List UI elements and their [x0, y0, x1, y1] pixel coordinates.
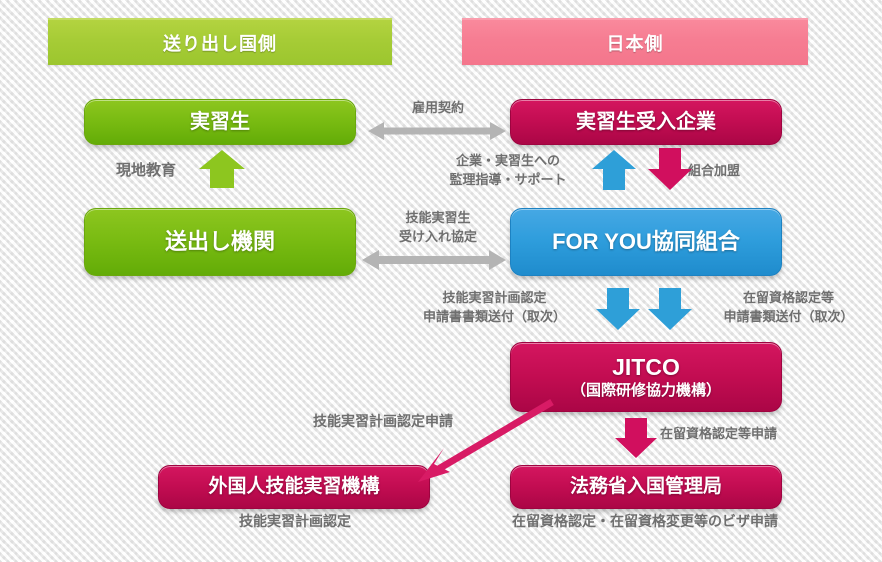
caption-supervision-support: 企業・実習生への 監理指導・サポート [428, 152, 588, 190]
caption-visa-application: 在留資格認定・在留資格変更等のビザ申請 [480, 511, 810, 531]
caption-status-document-send: 在留資格認定等 申請書類送付（取次） [706, 289, 871, 327]
arrow-down-icon [648, 288, 692, 330]
node-otit[interactable]: 外国人技能実習機構 [158, 465, 430, 509]
banner-sending-country: 送り出し国側 [48, 18, 392, 65]
diagram-canvas: 送り出し国側 日本側 実習生 実習生受入企業 送出し機関 FOR YOU協同組合… [0, 0, 882, 562]
node-sending-organization-label: 送出し機関 [165, 229, 275, 255]
arrow-down-icon [596, 288, 640, 330]
banner-sending-country-label: 送り出し国側 [163, 30, 277, 56]
arrow-down-icon [648, 148, 692, 190]
banner-japan-side: 日本側 [462, 18, 808, 65]
banner-japan-side-label: 日本側 [607, 30, 664, 56]
caption-status-certification-application: 在留資格認定等申請 [660, 425, 840, 444]
node-jitco-label: JITCO [612, 354, 680, 382]
double-arrow-horizontal-icon [362, 248, 506, 272]
caption-plan-document-send: 技能実習計画認定 申請書書類送付（取次） [412, 289, 577, 327]
node-sending-organization[interactable]: 送出し機関 [84, 208, 356, 276]
caption-plan-certified: 技能実習計画認定 [195, 511, 395, 531]
caption-union-membership: 組合加盟 [688, 162, 788, 181]
arrow-up-icon [199, 150, 245, 188]
double-arrow-horizontal-icon [368, 120, 506, 142]
node-immigration-bureau-label: 法務省入国管理局 [570, 476, 722, 499]
arrow-down-icon [615, 418, 657, 458]
node-foryou-cooperative-label: FOR YOU協同組合 [552, 229, 740, 255]
arrow-up-icon [592, 150, 636, 190]
node-host-company-label: 実習生受入企業 [576, 110, 716, 134]
node-trainee-label: 実習生 [190, 110, 250, 134]
node-jitco-sublabel: （国際研修協力機構） [571, 382, 721, 400]
caption-employment-contract: 雇用契約 [383, 99, 493, 118]
arrow-diagonal-down-left-icon [400, 398, 560, 488]
node-trainee[interactable]: 実習生 [84, 99, 356, 145]
caption-acceptance-agreement: 技能実習生 受け入れ協定 [373, 209, 503, 247]
node-otit-label: 外国人技能実習機構 [208, 476, 379, 499]
node-foryou-cooperative[interactable]: FOR YOU協同組合 [510, 208, 782, 276]
node-host-company[interactable]: 実習生受入企業 [510, 99, 782, 145]
caption-local-education: 現地教育 [96, 160, 196, 182]
